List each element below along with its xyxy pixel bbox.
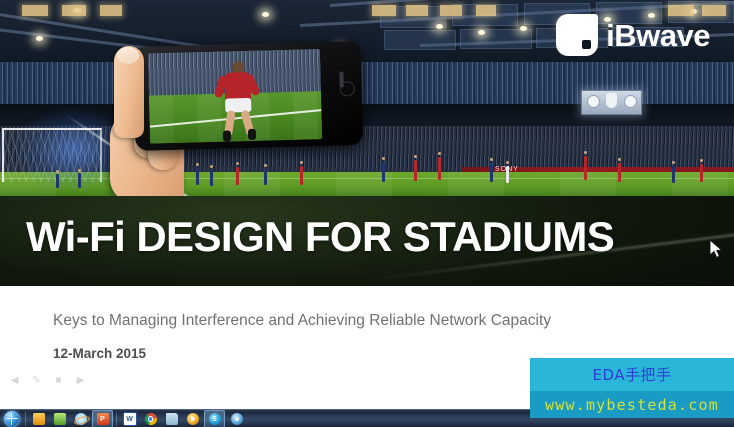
player-head: [672, 161, 675, 164]
hero-stadium-photo: SONY: [0, 0, 734, 198]
smartphone: [133, 41, 364, 151]
player: [584, 156, 587, 180]
slideshow-controls[interactable]: ◀ ✎ ■ ▶: [8, 375, 87, 387]
phone-screen-player-sock: [248, 129, 256, 140]
box-light: [372, 5, 396, 16]
player: [490, 163, 493, 182]
box-light: [476, 5, 496, 16]
presentation-slide[interactable]: SONY: [0, 0, 734, 409]
settings-gear-icon: [231, 413, 243, 425]
start-button[interactable]: [1, 411, 23, 427]
jumbotron-screen: [581, 90, 642, 115]
taskbar-item-skype[interactable]: S: [204, 410, 225, 427]
media-player-icon: [187, 413, 199, 425]
floodlight: [520, 26, 527, 31]
next-slide-icon: ▶: [74, 375, 87, 387]
taskbar-item-media-player[interactable]: [183, 411, 202, 427]
chrome-icon: [145, 413, 157, 425]
screen: SONY: [0, 0, 734, 427]
site-watermark: EDA手把手 www.mybesteda.com: [530, 358, 734, 418]
watermark-bottom-band: www.mybesteda.com: [530, 391, 734, 418]
box-light: [100, 5, 122, 16]
ibwave-logo-text: iBwave: [606, 20, 710, 51]
player-head: [414, 155, 417, 158]
taskbar-item-word[interactable]: W: [120, 411, 139, 427]
pen-tool-icon: ✎: [30, 375, 43, 387]
jumbotron-graphic: [587, 95, 600, 108]
windows-start-orb-icon: [4, 411, 20, 427]
goal-net: [2, 128, 102, 182]
player-head: [700, 159, 703, 162]
player-head: [490, 158, 493, 161]
player-head: [506, 161, 509, 164]
phone-screen: [148, 49, 322, 143]
taskbar-item-amber-app[interactable]: [29, 411, 48, 427]
slide-menu-button[interactable]: ■: [52, 375, 65, 387]
player: [438, 157, 441, 180]
player-head: [584, 151, 587, 154]
internet-explorer-icon: [75, 413, 87, 425]
taskbar-item-powerpoint[interactable]: P: [92, 410, 113, 427]
player-head: [618, 158, 621, 161]
jumbotron-graphic: [624, 95, 637, 108]
slide-date: 12-March 2015: [53, 346, 146, 361]
green-app-icon: [54, 413, 66, 425]
floodlight: [36, 36, 43, 41]
powerpoint-icon: P: [97, 413, 109, 425]
jumbotron-trophy-graphic: [606, 93, 617, 108]
slide-menu-icon: ■: [52, 375, 65, 387]
amber-app-icon: [33, 413, 45, 425]
taskbar-items: P W S: [28, 410, 247, 427]
title-band: Wi-Fi DESIGN FOR STADIUMS: [0, 196, 734, 286]
box-light: [22, 5, 48, 16]
skype-icon: S: [209, 413, 221, 425]
taskbar-item-internet-explorer[interactable]: [71, 411, 90, 427]
word-icon: W: [123, 412, 137, 426]
ibwave-logo-mark-icon: [556, 14, 598, 56]
ibwave-logo: iBwave: [556, 14, 710, 56]
watermark-url-text: www.mybesteda.com: [545, 396, 719, 414]
watermark-top-band: EDA手把手: [530, 358, 734, 391]
taskbar-item-folder[interactable]: [162, 411, 181, 427]
pen-tool-button[interactable]: ✎: [30, 375, 43, 387]
player: [672, 166, 675, 183]
roof-panel: [460, 29, 532, 49]
slide-title: Wi-Fi DESIGN FOR STADIUMS: [26, 213, 614, 261]
next-slide-button[interactable]: ▶: [74, 375, 87, 387]
taskbar-item-green-app[interactable]: [50, 411, 69, 427]
previous-slide-button[interactable]: ◀: [8, 375, 21, 387]
phone-home-button: [340, 81, 355, 96]
player: [414, 160, 417, 181]
fingernail: [117, 47, 139, 64]
folder-icon: [166, 413, 178, 425]
phone-screen-player-sock: [223, 130, 231, 141]
player: [78, 173, 81, 188]
player-head: [56, 170, 59, 173]
floodlight: [478, 30, 485, 35]
slide-subtitle: Keys to Managing Interference and Achiev…: [53, 312, 551, 330]
hand-holding-phone: [96, 22, 396, 198]
taskbar-divider: [116, 412, 117, 426]
taskbar-item-settings[interactable]: [227, 411, 246, 427]
floodlight: [262, 12, 269, 17]
taskbar-item-chrome[interactable]: [141, 411, 160, 427]
player: [618, 163, 621, 182]
box-light: [406, 5, 428, 16]
player: [506, 166, 509, 183]
watermark-brand-text: EDA手把手: [592, 364, 671, 385]
previous-slide-icon: ◀: [8, 375, 21, 387]
box-light: [62, 5, 86, 16]
mouse-pointer-icon: [710, 240, 724, 260]
player: [700, 164, 703, 182]
taskbar-divider: [25, 412, 26, 426]
player-head: [78, 169, 81, 172]
floodlight: [436, 24, 443, 29]
player: [56, 174, 59, 188]
box-light: [440, 5, 462, 16]
player-head: [438, 152, 441, 155]
